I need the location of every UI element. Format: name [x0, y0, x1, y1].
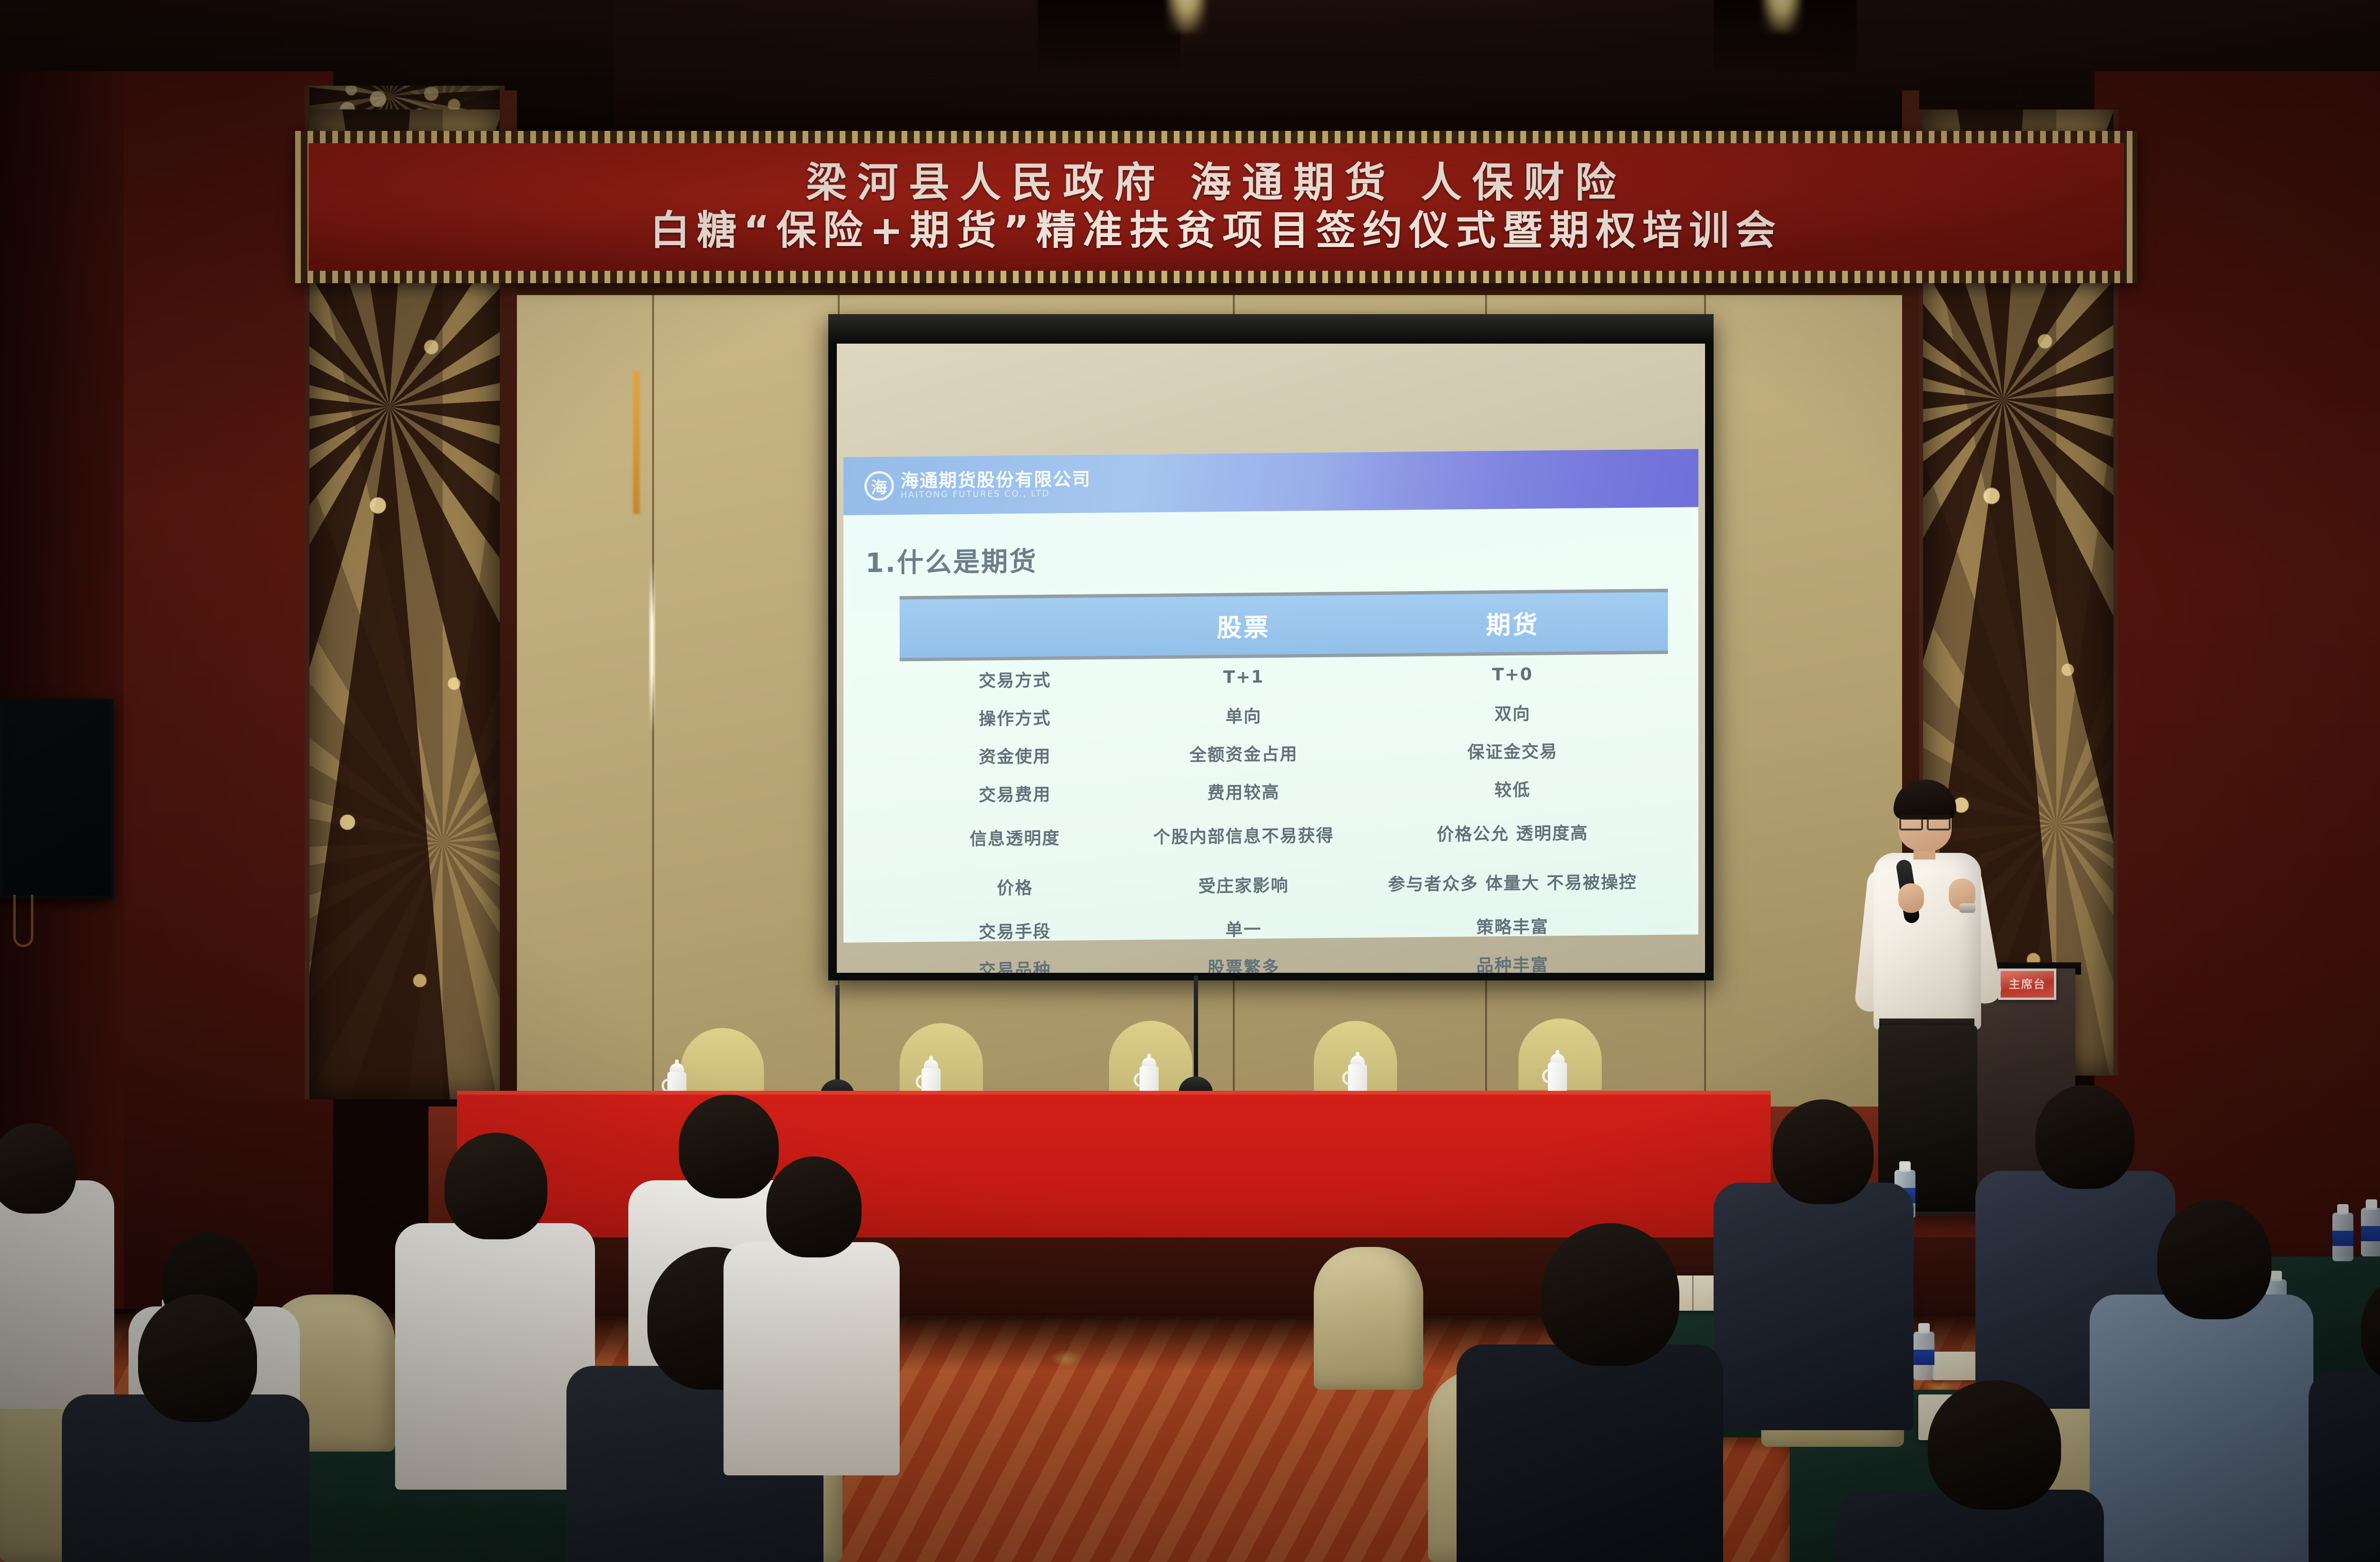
water-bottle — [2332, 1204, 2353, 1261]
table-header-futures: 期货 — [1357, 590, 1668, 655]
table-row: 交易方式T+1T+0 — [900, 652, 1668, 699]
presentation-slide: 海 海通期货股份有限公司 HAITONG FUTURES CO., LTD 1.… — [843, 449, 1698, 942]
banner-line-2: 白糖“保险+期货”精准扶贫项目签约仪式暨期权培训会 — [650, 207, 1783, 255]
slide-title: 1.什么是期货 — [843, 507, 1698, 580]
banner-line-1: 梁河县人民政府 海通期货 人保财险 — [806, 159, 1626, 207]
cell-futures: 价格公允 透明度高 — [1357, 806, 1668, 859]
wall-monitor[interactable] — [0, 699, 113, 899]
presenter-speaker — [1847, 771, 2028, 1214]
logo-company-name-cn: 海通期货股份有限公司 — [901, 470, 1091, 491]
water-bottle — [2361, 1199, 2380, 1256]
table-header-blank — [900, 595, 1130, 660]
comparison-table: 股票 期货 交易方式T+1T+0 操作方式单向双向 资金使用全额资金占用保证金交… — [900, 589, 1668, 973]
cell-stock: 单向 — [1130, 695, 1357, 735]
haitong-logo-icon: 海 — [864, 471, 894, 501]
table-row: 交易手段单一策略丰富 — [900, 905, 1668, 950]
row-label: 价格 — [900, 861, 1130, 913]
row-label: 操作方式 — [900, 697, 1130, 738]
cell-futures: 双向 — [1357, 692, 1668, 733]
cell-stock: 个股内部信息不易获得 — [1130, 809, 1357, 861]
table-microphone-stem — [1194, 976, 1198, 1090]
conference-hall-photo: 梁河县人民政府 海通期货 人保财险 白糖“保险+期货”精准扶贫项目签约仪式暨期权… — [0, 0, 2380, 1562]
projection-screen-top-bar — [828, 314, 1714, 344]
table-row: 交易费用费用较高较低 — [900, 768, 1668, 813]
monitor-cable — [13, 895, 33, 947]
teapot — [1546, 1052, 1569, 1094]
row-label: 交易品种 — [900, 949, 1130, 973]
event-banner: 梁河县人民政府 海通期货 人保财险 白糖“保险+期货”精准扶贫项目签约仪式暨期权… — [308, 143, 2124, 271]
audience-chair — [1314, 1247, 1423, 1390]
cell-futures: 参与者众多 体量大 不易被操控 — [1357, 856, 1668, 908]
presenter-hair — [1894, 780, 1956, 820]
wall-right-red — [2094, 71, 2380, 1333]
row-label: 信息透明度 — [900, 811, 1130, 863]
presenter-left-hand — [1898, 883, 1924, 913]
cell-futures: 较低 — [1357, 768, 1668, 809]
backdrop-amber-glow — [633, 371, 640, 514]
ceiling-recess-left — [1038, 0, 1180, 71]
projection-screen-surface: 海 海通期货股份有限公司 HAITONG FUTURES CO., LTD 1.… — [837, 344, 1705, 973]
ceiling-spotlight-1 — [1166, 0, 1207, 33]
row-label: 交易方式 — [900, 657, 1130, 699]
teapot — [1346, 1054, 1369, 1096]
slide-header-band: 海 海通期货股份有限公司 HAITONG FUTURES CO., LTD — [843, 449, 1698, 515]
table-row: 价格受庄家影响参与者众多 体量大 不易被操控 — [900, 856, 1668, 912]
row-label: 资金使用 — [900, 735, 1130, 776]
cell-stock: 费用较高 — [1130, 771, 1357, 811]
presenter-glasses — [1899, 815, 1951, 825]
table-header-stock: 股票 — [1130, 593, 1357, 658]
wall-left-shadow — [0, 71, 124, 1309]
table-row: 操作方式单向双向 — [900, 692, 1668, 737]
cell-stock: 股票繁多 — [1130, 946, 1357, 973]
table-row: 信息透明度个股内部信息不易获得价格公允 透明度高 — [900, 806, 1668, 863]
presenter-wristwatch — [1959, 903, 1975, 913]
cell-stock: 单一 — [1130, 908, 1357, 949]
ceiling-spotlight-2 — [1761, 0, 1802, 33]
cell-stock: 受庄家影响 — [1130, 859, 1357, 910]
row-label: 交易费用 — [900, 773, 1130, 814]
company-logo: 海 海通期货股份有限公司 HAITONG FUTURES CO., LTD — [843, 469, 1091, 501]
cell-futures: 保证金交易 — [1357, 730, 1668, 771]
cell-futures: 品种丰富 — [1357, 943, 1668, 973]
cell-stock: T+1 — [1130, 655, 1357, 697]
logo-company-name-en: HAITONG FUTURES CO., LTD — [901, 489, 1091, 500]
cell-futures: T+0 — [1357, 652, 1668, 695]
backdrop-light-strip — [650, 562, 654, 733]
table-body: 交易方式T+1T+0 操作方式单向双向 资金使用全额资金占用保证金交易 交易费用… — [900, 652, 1668, 973]
cell-stock: 全额资金占用 — [1130, 733, 1357, 773]
row-label: 交易手段 — [900, 910, 1130, 951]
table-row: 资金使用全额资金占用保证金交易 — [900, 730, 1668, 775]
table-header-row: 股票 期货 — [900, 590, 1668, 659]
water-bottle — [1914, 1323, 1934, 1380]
cell-futures: 策略丰富 — [1357, 905, 1668, 946]
banner-gold-frame: 梁河县人民政府 海通期货 人保财险 白糖“保险+期货”精准扶贫项目签约仪式暨期权… — [295, 131, 2137, 283]
